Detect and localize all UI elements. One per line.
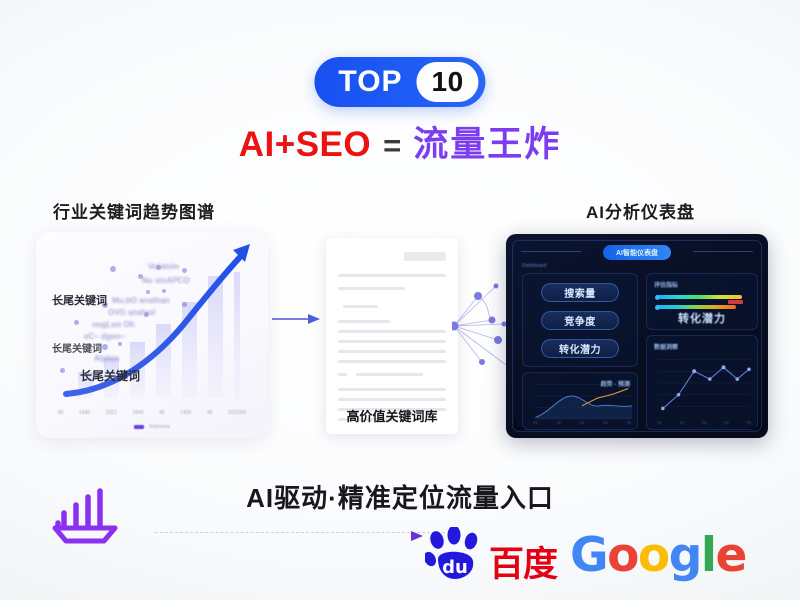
line-chart-graphic [647,336,757,429]
svg-text:du: du [442,557,468,578]
flow-arrow-icon [272,313,320,325]
area-chart-ticks: T1 T2 T3 T4 T5 [533,420,631,425]
gauge-knob-icon [655,295,660,300]
trend-tick: 46 [58,410,64,416]
baidu-logo: du 百度 [425,527,557,583]
keyword-trend-card: Volatoln No sinAPCO Mu,bO anathan OVG an… [36,232,268,438]
dashboard-subtitle: Dashboard [522,263,546,269]
trend-blur-term-2: Mu,bO anathan [112,296,170,305]
line-chart-ticks: T1 T2 T3 T4 T5 [657,420,751,425]
baidu-paw-icon: du [425,527,487,583]
ai-dashboard-card: AI智能仪表盘 Dashboard 搜索量 竞争度 转化潜力 [506,234,768,438]
metric-pill-search-volume[interactable]: 搜索量 [541,283,619,302]
tick: T3 [702,420,707,425]
legend-swatch-icon [134,425,144,429]
right-section-caption: AI分析仪表盘 [586,198,695,223]
metric-pill-competition[interactable]: 竞争度 [541,311,619,330]
google-letter-g2: g [669,528,701,583]
google-letter-o2: o [638,528,669,583]
dashboard-title-badge: AI智能仪表盘 [603,245,671,260]
search-engine-logos: du 百度 Google [425,524,746,586]
bar-chart-pedestal-icon [48,483,122,545]
gauge-knob-icon [655,305,660,310]
gauge-panel-label: 评估指标 [654,280,678,289]
top-badge-number: 10 [417,62,479,102]
long-tail-keyword-label-0: 长尾关键词 [52,292,107,308]
trend-blur-term-4: ougLuo Oh [92,320,135,329]
line-chart-panel: 数据洞察 T1 [646,335,758,430]
trend-tick: 48 [159,410,165,416]
trend-tick: 1844 [132,410,143,416]
google-logo: Google [570,532,746,579]
google-letter-l: l [701,528,716,583]
trend-legend-label: Indoluma [149,424,170,430]
trend-blur-term-1: No sinAPCO [142,276,190,285]
keyword-library-document [326,238,458,434]
trend-tick: 2023/05 [228,410,246,416]
area-chart-legend: 趋势 · 预测 [601,379,630,388]
trend-tick: 48 [207,410,213,416]
trend-legend: Indoluma [36,424,268,430]
headline-left: AI+SEO [239,125,371,164]
tick: T4 [724,420,729,425]
top-badge-label: TOP [338,67,416,97]
long-tail-keyword-label-1: 长尾关键词 [52,340,102,355]
doc-caption: 高价值关键词库 [326,406,458,425]
tick: T1 [533,420,538,425]
tick: T2 [679,420,684,425]
trend-tick: 2022 [106,410,117,416]
doc-header-block [404,252,446,261]
dashboard-frame: AI智能仪表盘 Dashboard 搜索量 竞争度 转化潜力 [512,240,762,432]
gauge-caption: 转化潜力 [647,310,757,326]
headline-right: 流量王炸 [413,125,561,164]
google-letter-e: e [715,528,745,583]
headline-equals: = [383,128,401,163]
top-rank-badge: TOP 10 [314,57,485,107]
tick: T3 [580,420,585,425]
trend-blur-term-3: OVG analysl [108,308,155,317]
trend-tick: 1440 [79,410,90,416]
page-title: AI+SEO=流量王炸 [0,127,800,162]
trend-tick: 7400 [180,410,191,416]
infographic-canvas: TOP 10 AI+SEO=流量王炸 行业关键词趋势图谱 AI分析仪表盘 [0,0,800,600]
gauge-bar-secondary [656,305,736,309]
long-tail-keyword-label-2: 长尾关键词 [80,367,140,384]
gauge-panel: 评估指标 转化潜力 [646,273,758,330]
tick: T5 [626,420,631,425]
baidu-wordmark: 百度 [489,547,557,582]
area-chart-panel: 趋势 · 预测 T1 T2 T3 T4 T5 [522,372,638,430]
google-letter-g1: G [570,528,607,583]
dashed-connector-line [155,532,445,533]
tick: T4 [603,420,608,425]
tick: T2 [556,420,561,425]
trend-blur-term-6: Alphin [94,354,119,363]
gauge-alert-tag [728,300,743,304]
google-letter-o1: o [607,528,638,583]
left-section-caption: 行业关键词趋势图谱 [53,198,215,223]
metric-pill-panel: 搜索量 竞争度 转化潜力 [522,273,638,367]
tick: T1 [657,420,662,425]
trend-axis-ticks: 46 1440 2022 1844 48 7400 48 2023/05 [36,410,268,416]
gauge-bar-primary [656,295,742,299]
metric-pill-conversion[interactable]: 转化潜力 [541,339,619,358]
trend-blur-term-0: Volatoln [148,262,179,271]
